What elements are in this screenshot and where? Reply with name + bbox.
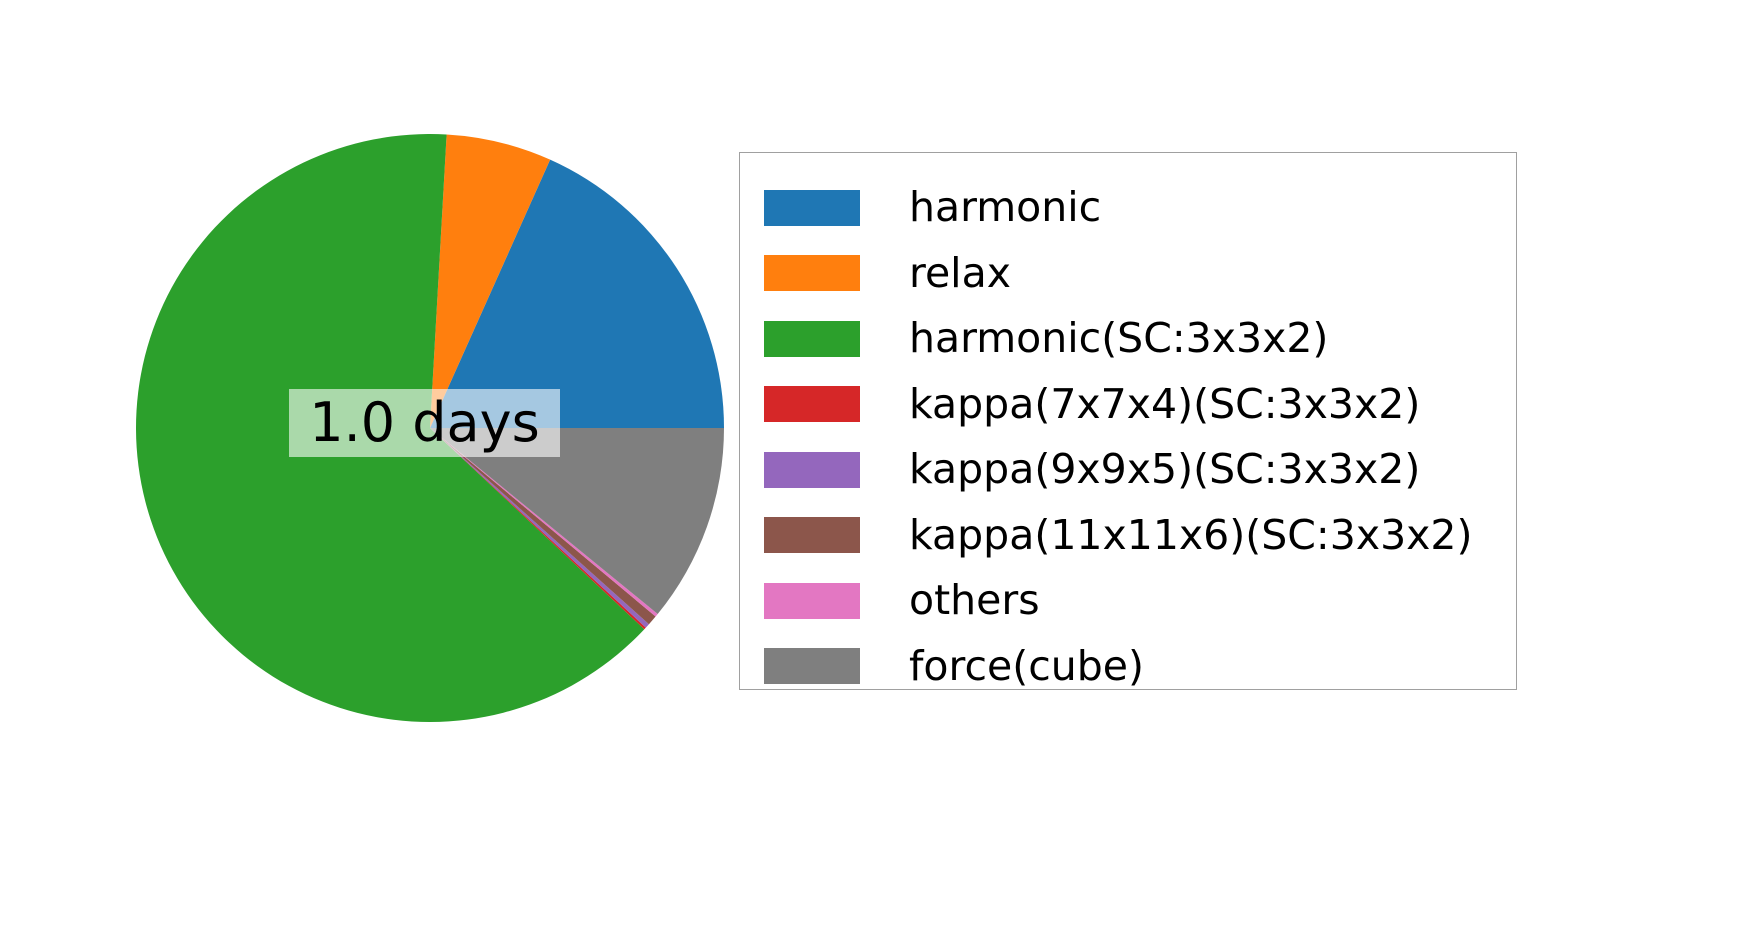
chart-legend: harmonicrelaxharmonic(SC:3x3x2)kappa(7x7… (739, 152, 1517, 690)
legend-item[interactable]: relax (764, 241, 1496, 307)
color-swatch-icon (764, 255, 860, 291)
color-swatch-icon (764, 452, 860, 488)
color-swatch-icon (764, 321, 860, 357)
legend-item[interactable]: harmonic(SC:3x3x2) (764, 306, 1496, 372)
pie-slice-group (136, 134, 724, 722)
color-swatch-icon (764, 190, 860, 226)
legend-item[interactable]: kappa(11x11x6)(SC:3x3x2) (764, 503, 1496, 569)
legend-item-label: kappa(11x11x6)(SC:3x3x2) (909, 515, 1473, 556)
legend-item-label: kappa(9x9x5)(SC:3x3x2) (909, 449, 1420, 490)
legend-item-label: force(cube) (909, 646, 1144, 687)
legend-item-label: harmonic(SC:3x3x2) (909, 318, 1328, 359)
legend-item[interactable]: kappa(7x7x4)(SC:3x3x2) (764, 372, 1496, 438)
color-swatch-icon (764, 517, 860, 553)
legend-item[interactable]: harmonic (764, 175, 1496, 241)
pie-chart (135, 133, 725, 723)
legend-item-label: kappa(7x7x4)(SC:3x3x2) (909, 384, 1420, 425)
color-swatch-icon (764, 583, 860, 619)
pie-svg (135, 133, 725, 723)
figure-canvas: 1.0 days harmonicrelaxharmonic(SC:3x3x2)… (0, 0, 1759, 951)
legend-item[interactable]: kappa(9x9x5)(SC:3x3x2) (764, 437, 1496, 503)
color-swatch-icon (764, 386, 860, 422)
color-swatch-icon (764, 648, 860, 684)
legend-item-label: others (909, 580, 1040, 621)
legend-item[interactable]: force(cube) (764, 634, 1496, 700)
legend-item-label: relax (909, 253, 1011, 294)
legend-item[interactable]: others (764, 568, 1496, 634)
legend-item-label: harmonic (909, 187, 1101, 228)
